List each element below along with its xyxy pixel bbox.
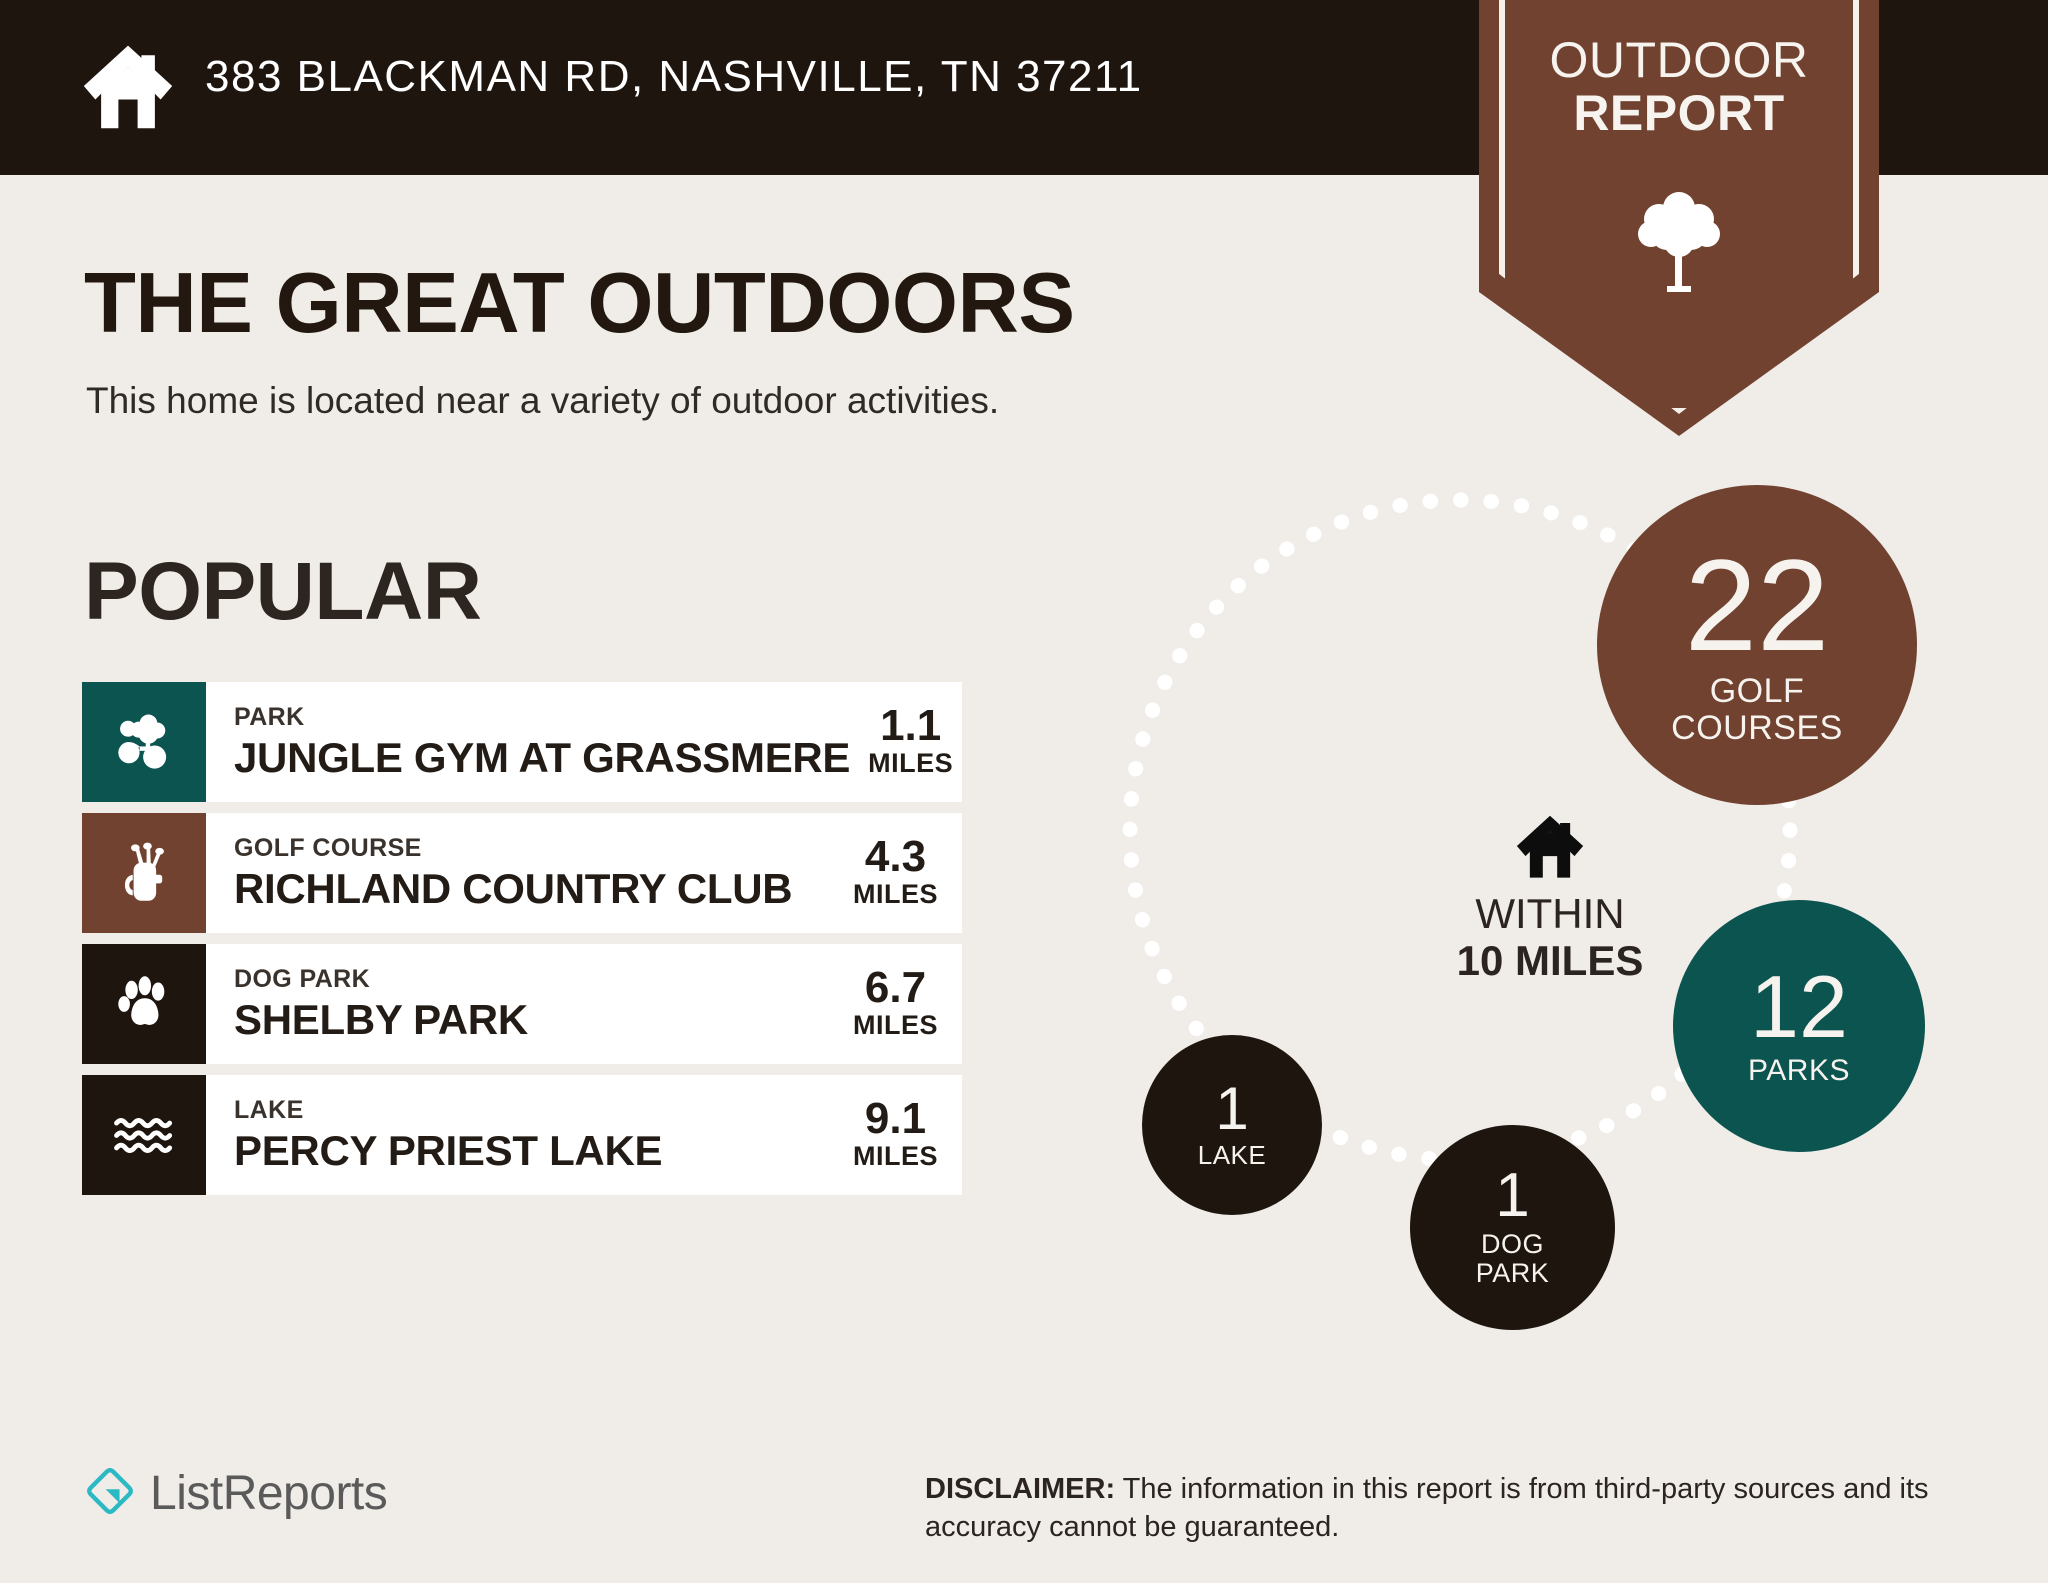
row-name: JUNGLE GYM AT GRASSMERE	[234, 734, 850, 782]
row-body: PARK JUNGLE GYM AT GRASSMERE 1.1 MILES	[206, 682, 977, 802]
water-waves-icon	[113, 1115, 175, 1156]
row-distance-unit: MILES	[853, 1010, 938, 1041]
popular-heading: POPULAR	[84, 545, 481, 639]
disclaimer-label: DISCLAIMER:	[925, 1473, 1115, 1505]
park-tree-icon	[113, 711, 175, 773]
stat-label: LAKE	[1198, 1141, 1267, 1169]
listreports-house-tag-icon	[84, 1465, 136, 1522]
list-item[interactable]: DOG PARK SHELBY PARK 6.7 MILES	[82, 944, 962, 1064]
row-distance-unit: MILES	[868, 748, 953, 779]
house-icon	[80, 38, 176, 134]
stat-bubble-dog-park[interactable]: 1 DOG PARK	[1410, 1125, 1615, 1330]
list-item[interactable]: GOLF COURSE RICHLAND COUNTRY CLUB 4.3 MI…	[82, 813, 962, 933]
badge-title-line1: OUTDOOR	[1479, 34, 1879, 87]
list-item[interactable]: LAKE PERCY PRIEST LAKE 9.1 MILES	[82, 1075, 962, 1195]
stat-bubble-parks[interactable]: 12 PARKS	[1673, 900, 1925, 1152]
list-item[interactable]: PARK JUNGLE GYM AT GRASSMERE 1.1 MILES	[82, 682, 962, 802]
row-icon-tile	[82, 944, 206, 1064]
row-texts: LAKE PERCY PRIEST LAKE	[234, 1096, 662, 1175]
outdoor-report-infographic: 383 BLACKMAN RD, NASHVILLE, TN 37211 OUT…	[0, 0, 2048, 1583]
listreports-logo-text: ListReports	[150, 1466, 387, 1521]
property-address: 383 BLACKMAN RD, NASHVILLE, TN 37211	[205, 52, 1143, 102]
within-10-miles-diagram: WITHIN 10 MILES 22 GOLF COURSES 12 PARKS…	[1060, 470, 1990, 1370]
row-distance: 4.3 MILES	[835, 835, 938, 910]
stat-label-line2: COURSES	[1671, 710, 1843, 747]
tree-icon	[1636, 186, 1722, 292]
distance-label: 10 MILES	[1390, 937, 1710, 984]
popular-list: PARK JUNGLE GYM AT GRASSMERE 1.1 MILES	[82, 682, 962, 1206]
outdoor-report-badge: OUTDOOR REPORT	[1479, 0, 1879, 436]
paw-print-icon	[115, 975, 173, 1033]
stat-bubble-lake[interactable]: 1 LAKE	[1142, 1035, 1322, 1215]
row-distance-value: 6.7	[853, 966, 938, 1010]
row-category: GOLF COURSE	[234, 834, 792, 863]
row-distance: 1.1 MILES	[850, 704, 953, 779]
stat-bubble-golf-courses[interactable]: 22 GOLF COURSES	[1597, 485, 1917, 805]
house-icon	[1514, 810, 1586, 882]
within-label: WITHIN	[1390, 890, 1710, 937]
row-icon-tile	[82, 682, 206, 802]
row-distance-value: 4.3	[853, 835, 938, 879]
row-distance-unit: MILES	[853, 1141, 938, 1172]
row-body: DOG PARK SHELBY PARK 6.7 MILES	[206, 944, 962, 1064]
stat-count: 22	[1685, 544, 1830, 668]
row-texts: PARK JUNGLE GYM AT GRASSMERE	[234, 703, 850, 782]
row-category: PARK	[234, 703, 850, 732]
disclaimer: DISCLAIMER: The information in this repo…	[925, 1470, 1985, 1547]
listreports-logo[interactable]: ListReports	[84, 1465, 387, 1522]
row-distance: 9.1 MILES	[835, 1097, 938, 1172]
row-name: RICHLAND COUNTRY CLUB	[234, 865, 792, 913]
row-distance: 6.7 MILES	[835, 966, 938, 1041]
page-title: THE GREAT OUTDOORS	[84, 255, 1075, 353]
stat-count: 1	[1215, 1080, 1248, 1137]
row-distance-unit: MILES	[853, 879, 938, 910]
row-name: SHELBY PARK	[234, 996, 528, 1044]
row-icon-tile	[82, 813, 206, 933]
row-texts: GOLF COURSE RICHLAND COUNTRY CLUB	[234, 834, 792, 913]
stat-count: 12	[1750, 965, 1848, 1049]
badge-title-line2: REPORT	[1479, 87, 1879, 140]
stat-label: PARKS	[1748, 1055, 1850, 1087]
stat-count: 1	[1495, 1167, 1529, 1226]
row-icon-tile	[82, 1075, 206, 1195]
stat-label-line2: PARK	[1476, 1259, 1550, 1288]
row-body: GOLF COURSE RICHLAND COUNTRY CLUB 4.3 MI…	[206, 813, 962, 933]
row-name: PERCY PRIEST LAKE	[234, 1127, 662, 1175]
badge-title: OUTDOOR REPORT	[1479, 34, 1879, 140]
page-subtitle: This home is located near a variety of o…	[86, 380, 999, 422]
stat-label-line1: DOG	[1476, 1230, 1550, 1259]
golf-bag-icon	[118, 840, 170, 906]
row-distance-value: 9.1	[853, 1097, 938, 1141]
row-body: LAKE PERCY PRIEST LAKE 9.1 MILES	[206, 1075, 962, 1195]
row-texts: DOG PARK SHELBY PARK	[234, 965, 528, 1044]
diagram-center-label: WITHIN 10 MILES	[1390, 810, 1710, 984]
stat-label-line1: GOLF	[1671, 673, 1843, 710]
row-category: LAKE	[234, 1096, 662, 1125]
row-category: DOG PARK	[234, 965, 528, 994]
row-distance-value: 1.1	[868, 704, 953, 748]
